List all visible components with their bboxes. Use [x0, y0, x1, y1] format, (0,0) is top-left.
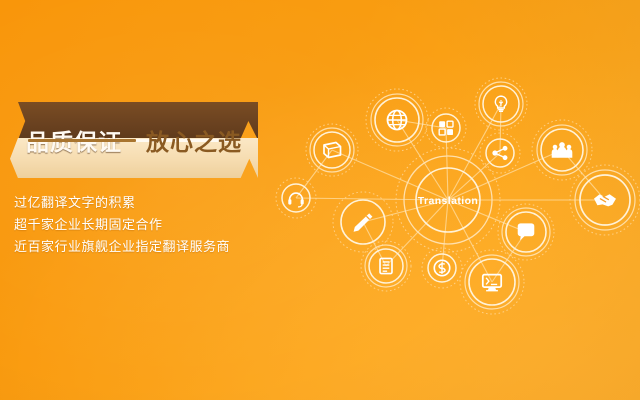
network-node-chat	[498, 204, 554, 260]
ribbon-bottom-rule	[28, 139, 136, 142]
tagline-list: 过亿翻译文字的积累 超千家企业长期固定合作 近百家行业旗舰企业指定翻译服务商	[14, 192, 274, 258]
pencil-icon	[354, 213, 373, 231]
network-node-handshake	[570, 165, 640, 235]
lightbulb-icon	[495, 96, 506, 111]
tagline-item: 超千家企业长期固定合作	[14, 214, 274, 236]
hub-label: Translation	[418, 195, 478, 207]
chat-icon	[518, 223, 535, 240]
network-node-lightbulb	[475, 78, 527, 130]
banner-canvas: Translation	[0, 0, 640, 400]
translation-network-graphic: Translation	[285, 70, 640, 320]
network-node-globe	[366, 89, 428, 151]
coin-icon	[434, 260, 449, 275]
headset-icon	[288, 193, 303, 207]
network-node-coin	[422, 248, 462, 288]
people-icon	[552, 142, 573, 158]
globe-icon	[388, 111, 407, 130]
tagline-item: 近百家行业旗舰企业指定翻译服务商	[14, 236, 274, 258]
headline-ribbon: 品质保证 放心之选	[10, 102, 258, 178]
monitor-icon	[483, 275, 501, 291]
network-node-people	[532, 120, 592, 180]
handshake-icon	[594, 194, 616, 206]
tagline-item: 过亿翻译文字的积累	[14, 192, 274, 214]
ribbon-bottom-title: 放心之选	[146, 123, 242, 157]
network-node-pencil	[333, 192, 393, 252]
